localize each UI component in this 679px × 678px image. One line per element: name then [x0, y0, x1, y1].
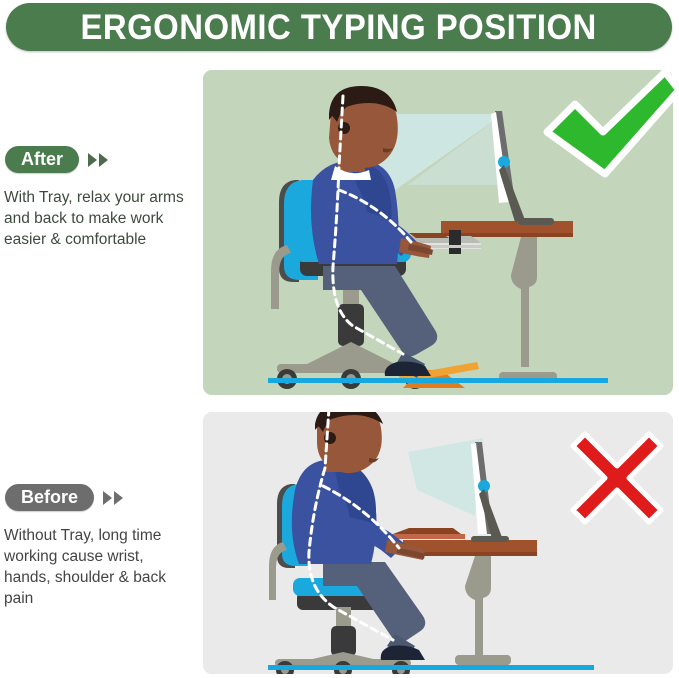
after-description: With Tray, relax your arms and back to m…	[0, 187, 200, 250]
double-right-arrow-icon	[88, 153, 108, 167]
before-description: Without Tray, long time working cause wr…	[0, 525, 200, 609]
before-badge: Before	[5, 484, 94, 511]
double-right-arrow-icon	[103, 491, 123, 505]
after-tag-row: After	[0, 146, 200, 173]
after-badge: After	[5, 146, 79, 173]
red-cross-icon	[569, 430, 665, 526]
page-title-banner: ERGONOMIC TYPING POSITION	[6, 3, 672, 51]
after-illustration-panel	[203, 70, 673, 395]
green-check-icon	[539, 70, 679, 182]
after-text-block: After With Tray, relax your arms and bac…	[0, 146, 200, 250]
before-tag-row: Before	[0, 484, 200, 511]
after-floor-line	[268, 378, 608, 383]
before-illustration-panel	[203, 412, 673, 674]
before-text-block: Before Without Tray, long time working c…	[0, 484, 200, 609]
page-title: ERGONOMIC TYPING POSITION	[81, 10, 597, 45]
before-floor-line	[268, 665, 594, 670]
